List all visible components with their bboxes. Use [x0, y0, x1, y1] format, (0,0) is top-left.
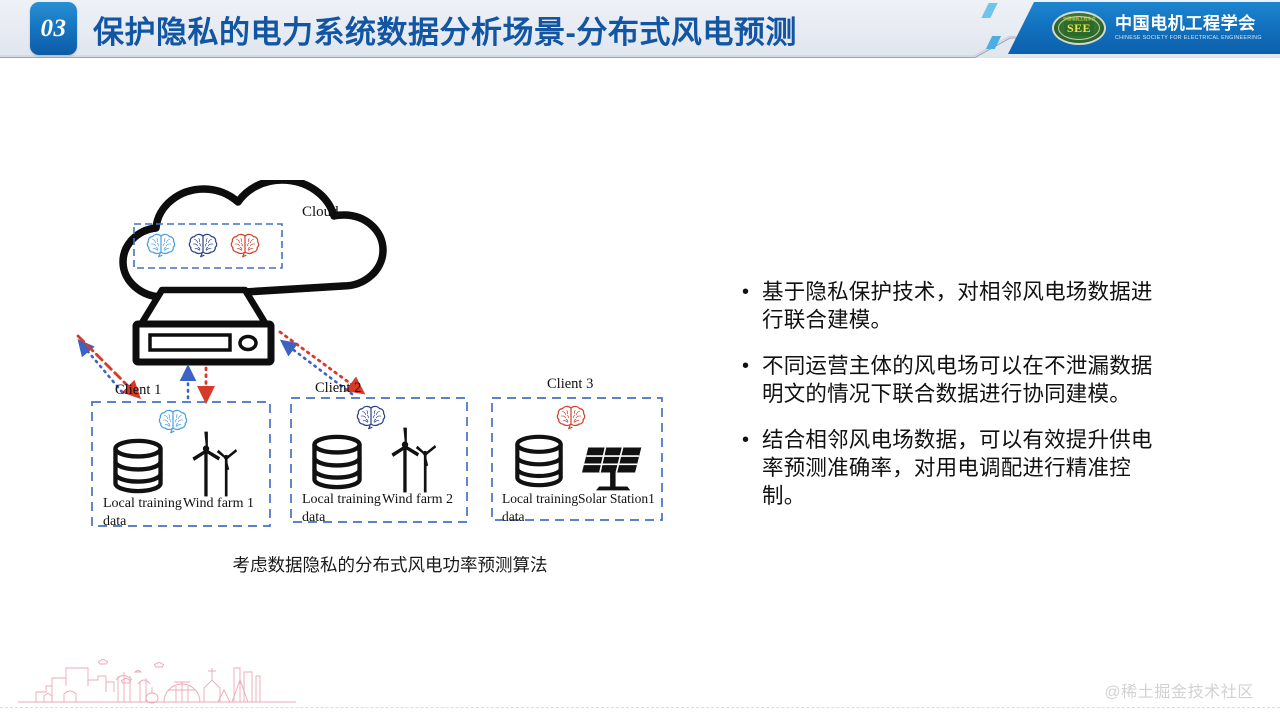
client-3-solar-panel-icon — [582, 447, 641, 490]
bullet-text: 结合相邻风电场数据，可以有效提升供电率预测准确率，对用电调配进行精准控制。 — [762, 426, 1172, 510]
page-title: 保护隐私的电力系统数据分析场景-分布式风电预测 — [93, 6, 797, 52]
list-item: • 结合相邻风电场数据，可以有效提升供电率预测准确率，对用电调配进行精准控制。 — [742, 426, 1172, 510]
logo-name-cn: 中国电机工程学会 — [1115, 15, 1262, 33]
footer-divider — [0, 707, 1280, 708]
client-2-data-label-line2: data — [302, 510, 326, 525]
see-emblem-icon: 中国电机工程学会 SEE — [1052, 11, 1106, 45]
bullet-text: 不同运营主体的风电场可以在不泄漏数据明文的情况下联合数据进行协同建模。 — [762, 352, 1172, 408]
logo-accent-tick-top — [981, 3, 997, 18]
bullet-text: 基于隐私保护技术，对相邻风电场数据进行联合建模。 — [762, 278, 1172, 334]
client-2-data-label-line1: Local training — [302, 492, 381, 507]
bullet-marker-icon: • — [742, 352, 762, 380]
bullet-marker-icon: • — [742, 278, 762, 306]
client-3-data-label-line1: Local training — [502, 491, 578, 506]
cloud-server-icon — [136, 290, 271, 362]
architecture-diagram: Cloud Clien — [70, 180, 710, 580]
logo-text-block: 中国电机工程学会 CHINESE SOCIETY FOR ELECTRICAL … — [1115, 15, 1262, 41]
client-2-database-icon — [314, 437, 359, 487]
list-item: • 基于隐私保护技术，对相邻风电场数据进行联合建模。 — [742, 278, 1172, 334]
client-2-wind-turbine-icon — [391, 428, 436, 493]
bullet-list: • 基于隐私保护技术，对相邻风电场数据进行联合建模。 • 不同运营主体的风电场可… — [742, 278, 1172, 528]
client-2-brain-icon — [357, 406, 384, 428]
client-3-data-label-line2: data — [502, 509, 525, 524]
client-1-label: Client 1 — [115, 382, 161, 398]
list-item: • 不同运营主体的风电场可以在不泄漏数据明文的情况下联合数据进行协同建模。 — [742, 352, 1172, 408]
client-3-database-icon — [517, 437, 560, 485]
bullet-marker-icon: • — [742, 426, 762, 454]
logo-accent-tick-bottom — [986, 36, 1001, 49]
client-2-label: Client 2 — [315, 380, 361, 396]
client-1-asset-label: Wind farm 1 — [183, 496, 254, 511]
slide: 03 保护隐私的电力系统数据分析场景-分布式风电预测 中国电机工程学会 SEE … — [0, 0, 1280, 720]
section-number-text: 03 — [41, 15, 67, 43]
section-number-badge: 03 — [30, 2, 77, 55]
client-1-data-label-line1: Local training — [103, 496, 182, 511]
diagram-svg: Cloud Clien — [70, 180, 710, 580]
client-1-database-icon — [115, 441, 160, 491]
client-2-asset-label: Wind farm 2 — [382, 492, 453, 507]
client-1-wind-turbine-icon — [192, 432, 237, 497]
cloud-shape — [123, 180, 383, 297]
organization-logo-banner: 中国电机工程学会 SEE 中国电机工程学会 CHINESE SOCIETY FO… — [1008, 2, 1280, 54]
cloud-label: Cloud — [302, 204, 339, 220]
logo-name-en: CHINESE SOCIETY FOR ELECTRICAL ENGINEERI… — [1115, 36, 1262, 42]
watermark-text: @稀土掘金技术社区 — [1104, 678, 1254, 702]
emblem-see-text: SEE — [1064, 21, 1094, 36]
client-1-brain-icon — [159, 410, 186, 432]
client-1-data-label-line2: data — [103, 514, 127, 529]
slide-header: 03 保护隐私的电力系统数据分析场景-分布式风电预测 中国电机工程学会 SEE … — [0, 0, 1280, 58]
client-3-brain-icon — [557, 406, 584, 428]
industrial-skyline-decoration — [0, 650, 300, 710]
client-3-asset-label: Solar Station1 — [578, 491, 655, 506]
client-3-label: Client 3 — [547, 376, 593, 392]
diagram-caption: 考虑数据隐私的分布式风电功率预测算法 — [70, 552, 710, 577]
